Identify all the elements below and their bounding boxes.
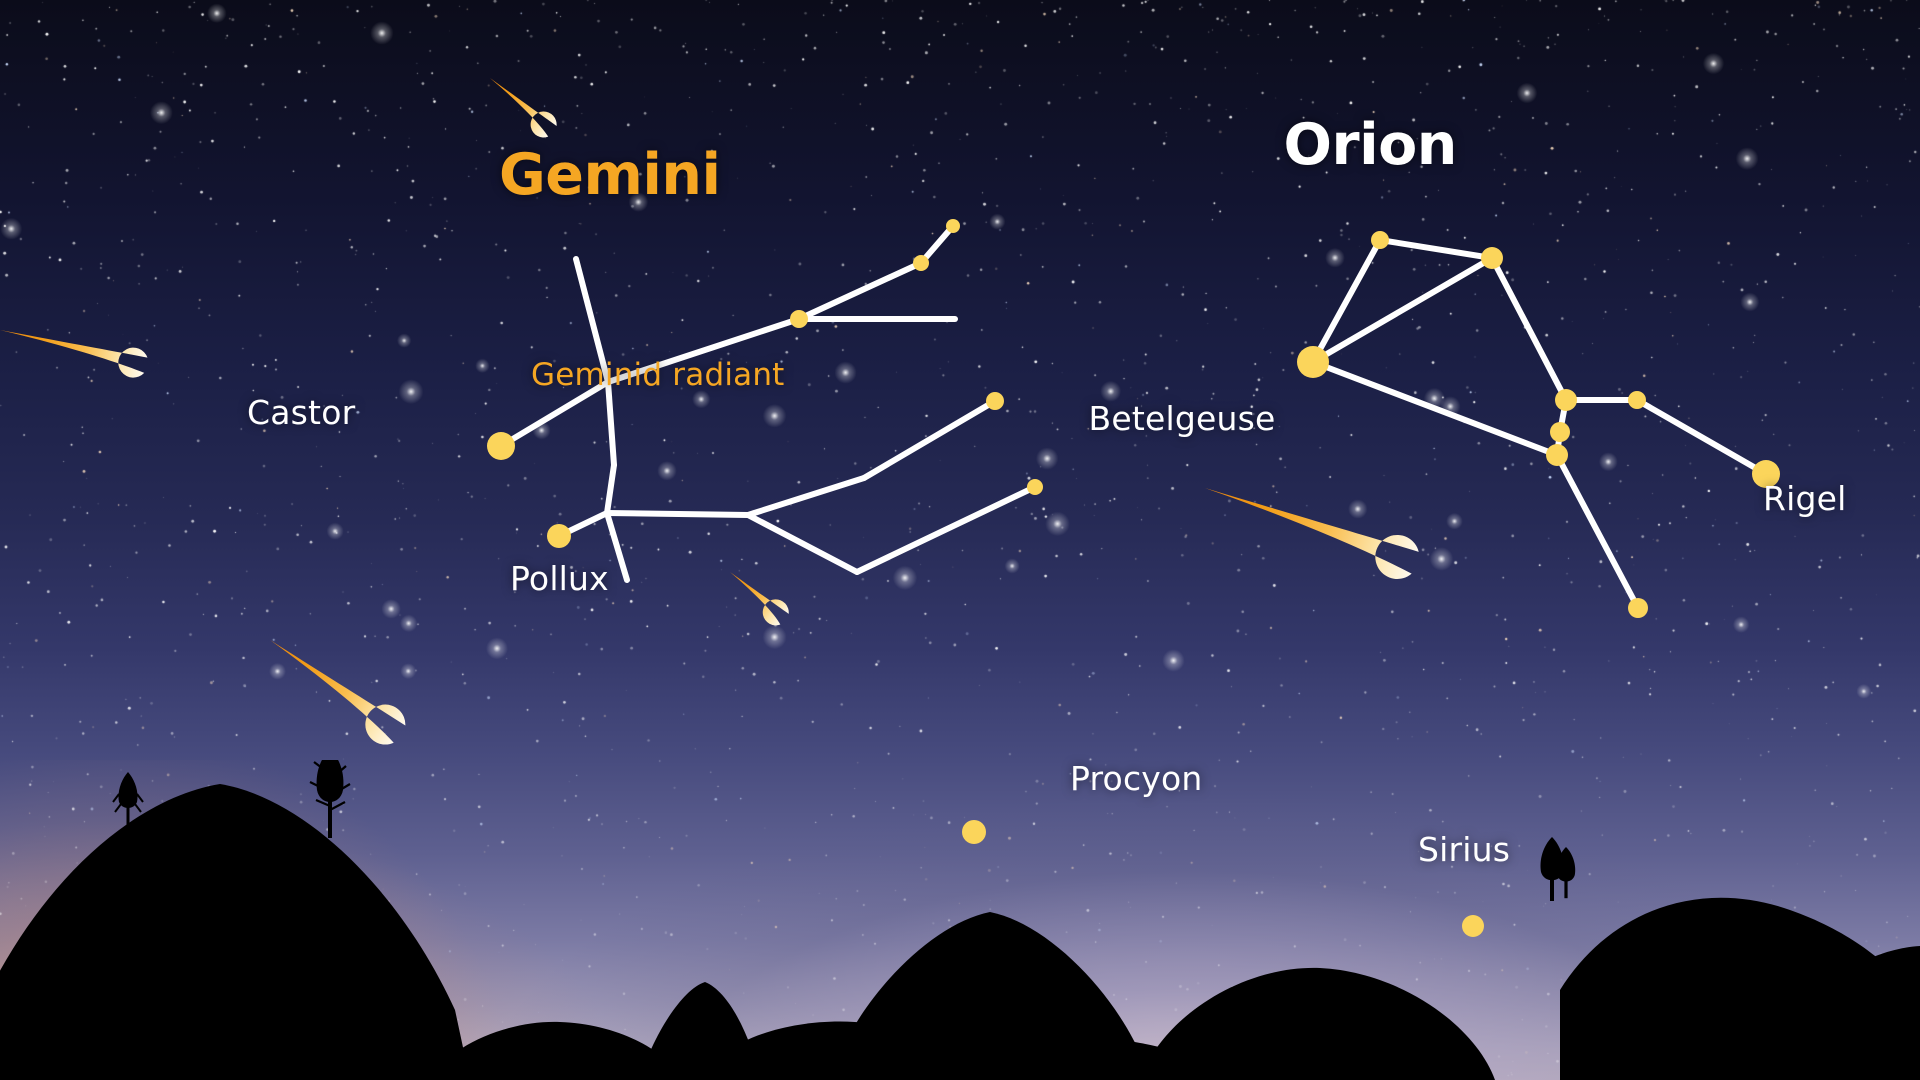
star-marker-mintaka [1546,444,1568,466]
pollux-label: Pollux [510,559,609,598]
orion-label: Orion [1284,112,1457,178]
betelgeuse-label: Betelgeuse [1089,399,1276,438]
meteor-2 [0,319,149,380]
star-marker-o_right [1628,391,1646,409]
star-marker-g_up2 [913,255,929,271]
star-marker-alnitak [1555,389,1577,411]
star-marker-bellatrix [1371,231,1389,249]
landscape-silhouette [0,760,1920,1080]
star-marker-castor [487,432,515,460]
constellation-line-orion [1313,362,1557,455]
constellation-line-gemini [607,513,748,515]
star-marker-g_foot1 [986,392,1004,410]
star-marker-g_up [790,310,808,328]
meteor-5 [1196,473,1422,584]
constellation-line-gemini [607,465,614,513]
star-marker-meissa [1481,247,1503,269]
star-marker-g_up3 [946,219,960,233]
constellation-line-gemini [748,515,857,572]
constellation-line-orion [1557,455,1638,608]
constellation-line-orion [1637,400,1766,474]
star-marker-saiph [1628,598,1648,618]
constellation-line-gemini [857,487,1035,572]
constellation-line-gemini [608,382,614,465]
gemini-label: Gemini [499,142,721,208]
constellation-line-gemini [864,401,995,478]
constellation-line-orion [1380,240,1492,258]
meteor-4 [720,565,793,630]
rigel-label: Rigel [1763,479,1847,518]
meteor-3 [256,628,411,751]
star-marker-alnilam [1550,422,1570,442]
constellation-line-gemini [748,478,864,515]
geminid-radiant-label: Geminid radiant [531,357,785,393]
constellation-line-gemini [799,263,921,319]
sky-map-scene: GeminiOrionGeminid radiantCastorPolluxBe… [0,0,1920,1080]
castor-label: Castor [247,393,355,432]
star-marker-pollux [547,524,571,548]
constellation-line-gemini [607,513,627,580]
star-marker-g_foot2 [1027,479,1043,495]
constellation-line-orion [1492,258,1566,400]
meteor-1 [480,71,561,142]
star-marker-betelgeuse [1297,346,1329,378]
